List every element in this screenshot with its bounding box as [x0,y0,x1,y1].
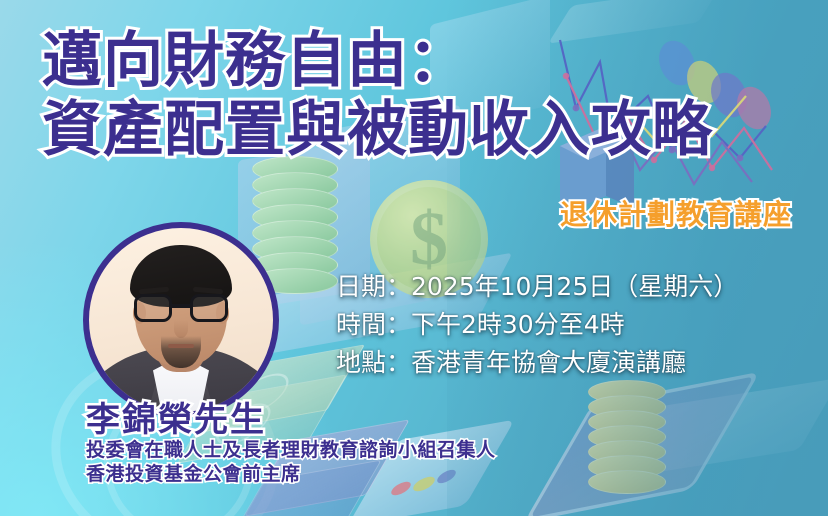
title-line-1: 邁向財務自由： [42,28,713,95]
glasses-bridge [172,304,190,308]
speaker-credentials: 投委會在職人士及長者理財教育諮詢小組召集人 香港投資基金公會前主席 [86,438,496,487]
glasses-lens-right [190,294,228,322]
coin-stack-gold-phone [588,380,666,500]
glasses-lens-left [134,294,172,322]
event-location: 地點：香港青年協會大廈演講廳 [336,344,738,382]
event-date: 日期：2025年10月25日（星期六） [336,268,738,306]
event-poster: 邁向財務自由： 資產配置與被動收入攻略 退休計劃教育講座 日期：2025年10月… [0,0,828,516]
credential-line-2: 香港投資基金公會前主席 [86,462,496,486]
event-details: 日期：2025年10月25日（星期六） 時間：下午2時30分至4時 地點：香港青… [336,268,738,382]
keyboard-illustration [619,378,828,479]
speaker-portrait [83,222,279,418]
smartphone-illustration [524,372,760,516]
speaker-name: 李錦榮先生 [86,392,266,441]
decor-ellipse-mauve [731,82,777,135]
chart-node-4 [737,155,744,162]
chart-node-7 [709,165,715,171]
poster-title: 邁向財務自由： 資產配置與被動收入攻略 [42,28,713,164]
portrait-mouth [168,344,194,348]
event-time: 時間：下午2時30分至4時 [336,306,738,344]
credential-line-1: 投委會在職人士及長者理財教育諮詢小組召集人 [86,438,496,462]
title-line-2: 資產配置與被動收入攻略 [42,97,713,164]
poster-subtitle: 退休計劃教育講座 [560,193,792,233]
